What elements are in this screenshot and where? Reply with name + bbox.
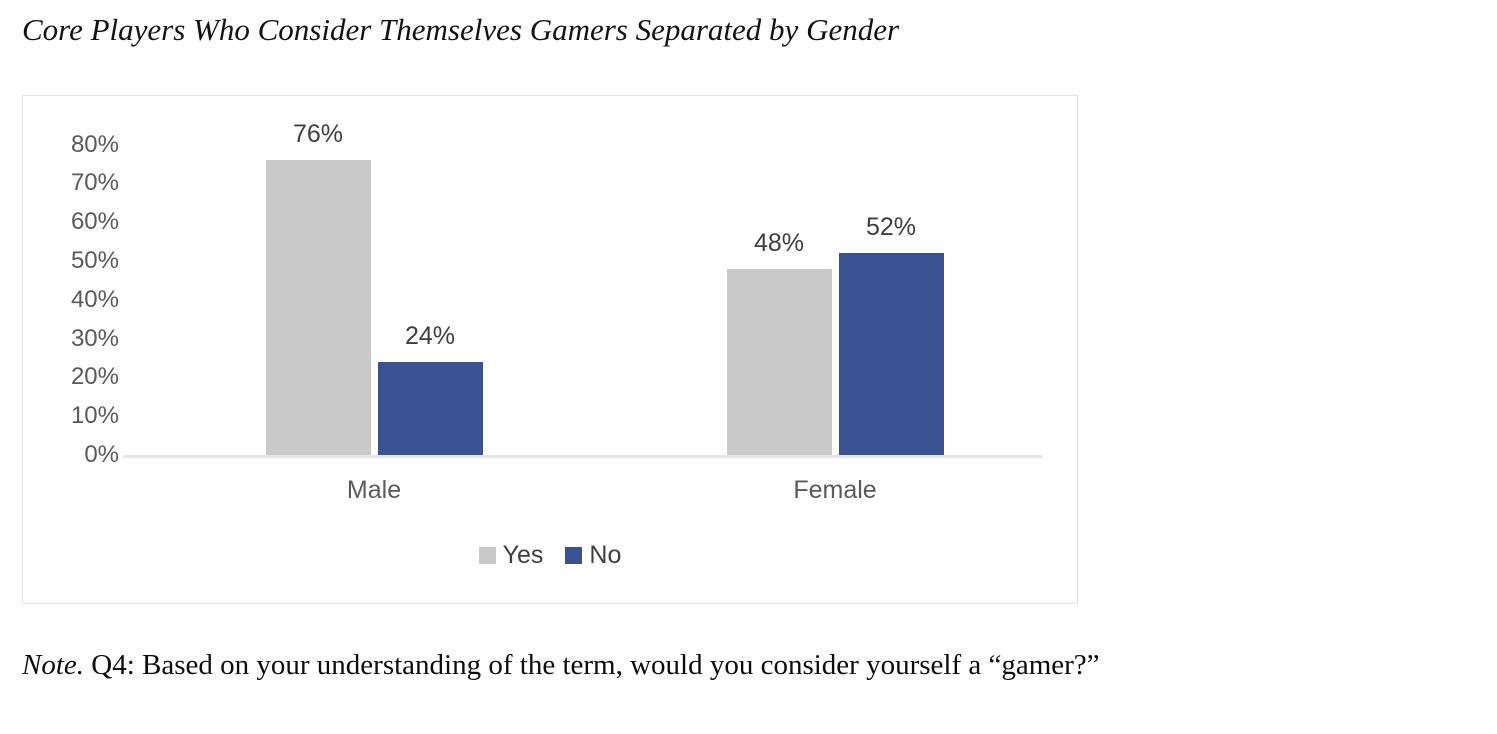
legend-item-no[interactable]: No <box>565 543 621 568</box>
bar-value-label: 76% <box>293 120 343 149</box>
bar-value-label: 52% <box>866 213 916 242</box>
bar-female-yes[interactable] <box>727 269 832 455</box>
bars-layer: 76%48%24%52% <box>23 96 1077 603</box>
plot-area: 80%70%60%50%40%30%20%10%0% 76%48%24%52% … <box>23 96 1077 603</box>
bar-value-label: 48% <box>754 229 804 258</box>
bar-female-no[interactable] <box>839 253 944 455</box>
note-label: Note. <box>22 649 84 681</box>
bar-male-yes[interactable] <box>266 160 371 455</box>
bar-value-label: 24% <box>405 322 455 351</box>
legend-swatch-yes-icon <box>479 547 496 564</box>
legend-item-yes[interactable]: Yes <box>479 543 544 568</box>
figure-note: Note. Q4: Based on your understanding of… <box>22 645 1492 685</box>
note-body: Q4: Based on your understanding of the t… <box>84 649 1100 681</box>
chart-container: 80%70%60%50%40%30%20%10%0% 76%48%24%52% … <box>22 95 1078 604</box>
figure-title: Core Players Who Consider Themselves Gam… <box>22 8 1222 52</box>
legend-label: No <box>589 543 621 568</box>
bar-male-no[interactable] <box>378 362 483 455</box>
chart-legend: YesNo <box>23 543 1077 568</box>
legend-swatch-no-icon <box>565 547 582 564</box>
x-axis-category-female: Female <box>793 476 876 505</box>
legend-label: Yes <box>503 543 544 568</box>
x-axis-category-male: Male <box>347 476 401 505</box>
